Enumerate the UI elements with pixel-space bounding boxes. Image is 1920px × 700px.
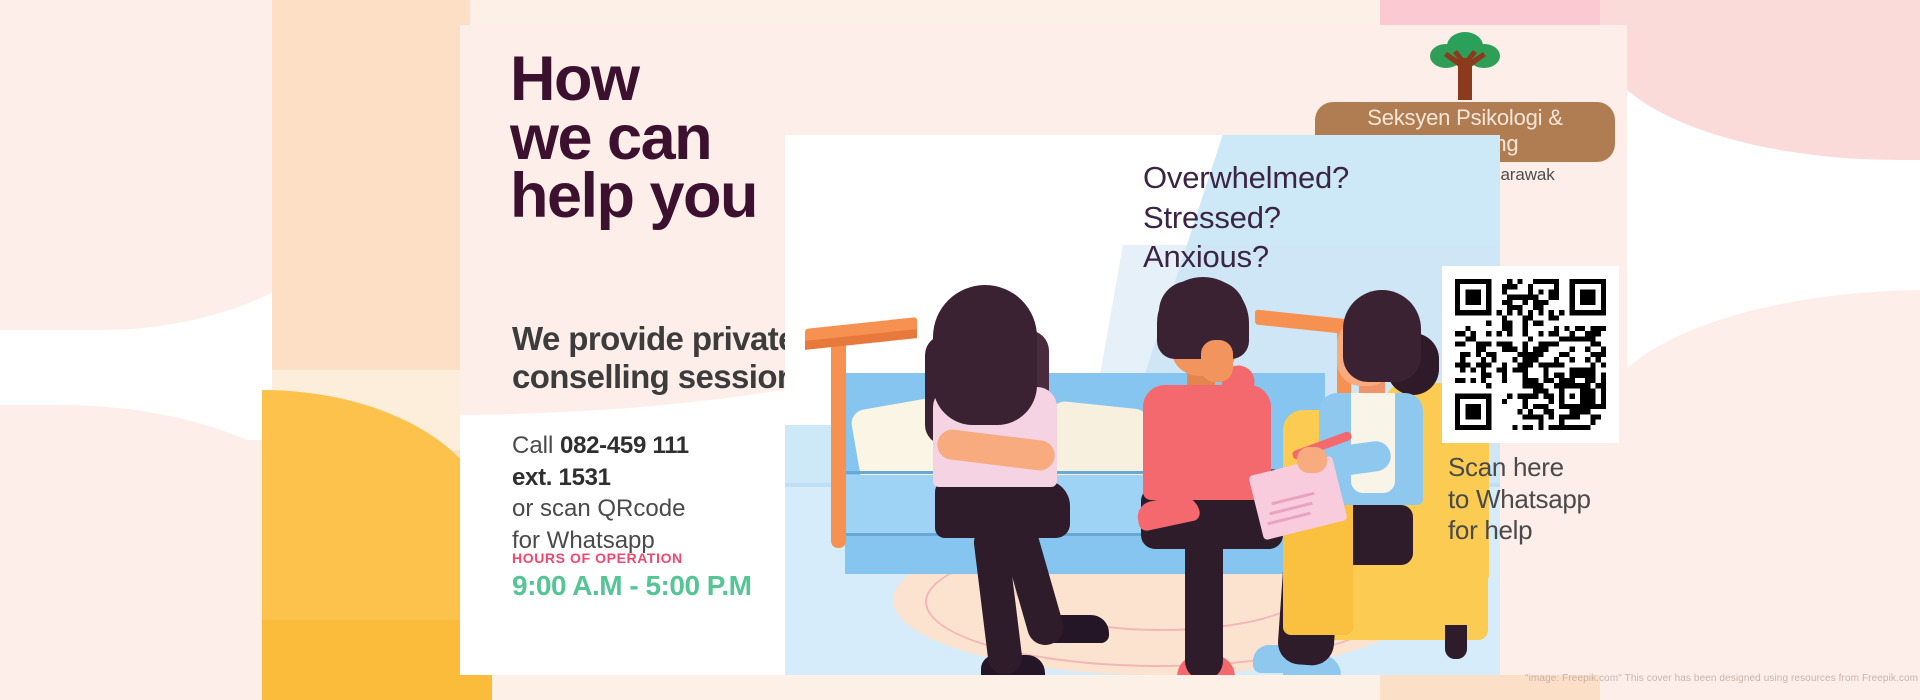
question-line-3: Anxious? bbox=[1143, 237, 1349, 277]
background-peach-column-upper bbox=[272, 0, 470, 390]
call-prefix-label: Call bbox=[512, 432, 560, 459]
woman-trousers bbox=[935, 480, 1070, 538]
hours-of-operation-value: 9:00 A.M - 5:00 P.M bbox=[512, 570, 751, 602]
image-credit: "image: Freepik.com" This cover has been… bbox=[1525, 673, 1918, 684]
headline-line-1: How bbox=[510, 50, 757, 109]
qr-code-icon[interactable] bbox=[1455, 279, 1606, 430]
man-hand-on-chin bbox=[1201, 340, 1233, 382]
questions-block: Overwhelmed? Stressed? Anxious? bbox=[1143, 158, 1349, 277]
qr-caption-line-2: to Whatsapp bbox=[1448, 484, 1633, 516]
tree-icon bbox=[1417, 30, 1513, 100]
background-far-right-wave-bottom bbox=[1600, 290, 1920, 700]
phone-number: 082-459 111 bbox=[560, 432, 689, 459]
qr-caption: Scan here to Whatsapp for help bbox=[1448, 452, 1633, 547]
qr-code-panel[interactable] bbox=[1442, 266, 1619, 443]
headline-line-3: help you bbox=[510, 167, 757, 226]
counselor-hand bbox=[1297, 447, 1327, 473]
qr-caption-line-1: Scan here bbox=[1448, 452, 1633, 484]
man-hair-fringe bbox=[1159, 281, 1245, 321]
hours-of-operation-label: HOURS OF OPERATION bbox=[512, 550, 683, 566]
armchair-leg bbox=[1445, 625, 1467, 659]
question-line-2: Stressed? bbox=[1143, 198, 1349, 238]
headline-line-2: we can bbox=[510, 109, 757, 168]
woman-hair-top bbox=[933, 285, 1037, 425]
poster-canvas: How we can help you We provide private c… bbox=[0, 0, 1920, 700]
phone-extension: ext. 1531 bbox=[512, 464, 611, 491]
question-line-1: Overwhelmed? bbox=[1143, 158, 1349, 198]
qr-caption-line-3: for help bbox=[1448, 515, 1633, 547]
background-yellow-wave-shadow bbox=[262, 620, 492, 700]
man-leg-standing bbox=[1185, 530, 1223, 675]
counselor-hair bbox=[1343, 290, 1421, 382]
page-title: How we can help you bbox=[510, 50, 757, 226]
sofa-left-arm-leg bbox=[831, 333, 846, 548]
